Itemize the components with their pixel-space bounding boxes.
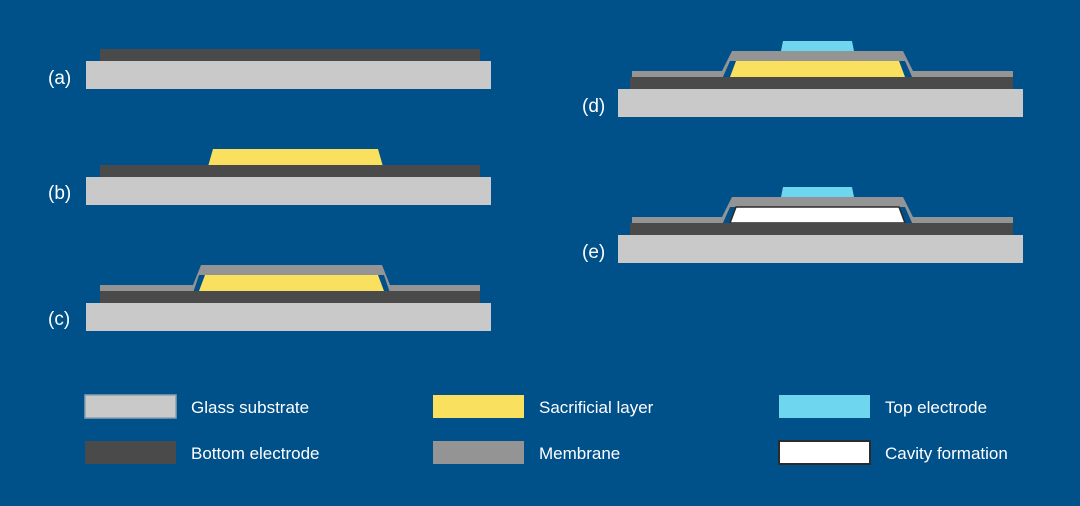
legend-label-bottom-electrode: Bottom electrode — [191, 444, 320, 463]
legend-swatch-sacrificial-layer — [433, 395, 524, 418]
legend-swatch-top-electrode — [779, 395, 870, 418]
panel-a-label: (a) — [48, 68, 71, 89]
panel-c-sacrificial-layer — [199, 275, 384, 291]
panel-c-label: (c) — [48, 309, 70, 330]
legend-item-sacrificial-layer: Sacrificial layer — [433, 395, 654, 418]
panel-b-bottom-electrode — [100, 165, 480, 177]
legend-swatch-glass-substrate — [85, 395, 176, 418]
legend-label-top-electrode: Top electrode — [885, 398, 987, 417]
panel-a: (a) — [48, 49, 491, 89]
panel-b-label: (b) — [48, 183, 71, 204]
legend-swatch-membrane — [433, 441, 524, 464]
panel-d-bottom-electrode — [630, 77, 1013, 89]
legend-item-glass-substrate: Glass substrate — [85, 395, 309, 418]
panel-a-bottom-electrode — [100, 49, 480, 61]
panel-b-glass-substrate — [86, 177, 491, 205]
legend-swatch-cavity-formation — [779, 441, 870, 464]
panel-c-bottom-electrode — [100, 291, 480, 303]
panel-d-sacrificial-layer — [730, 61, 905, 77]
legend-item-bottom-electrode: Bottom electrode — [85, 441, 320, 464]
process-flow-figure: (a) (b) (c) (d) (e) — [0, 0, 1080, 506]
legend-label-glass-substrate: Glass substrate — [191, 398, 309, 417]
legend-label-sacrificial-layer: Sacrificial layer — [539, 398, 654, 417]
panel-e-glass-substrate — [618, 235, 1023, 263]
panel-e-cavity-formation — [730, 207, 905, 223]
panel-d-glass-substrate — [618, 89, 1023, 117]
panel-e-label: (e) — [582, 242, 605, 263]
legend-label-cavity-formation: Cavity formation — [885, 444, 1008, 463]
panel-c-glass-substrate — [86, 303, 491, 331]
process-flow-svg: (a) (b) (c) (d) (e) — [0, 0, 1080, 506]
panel-d-label: (d) — [582, 96, 605, 117]
panel-a-glass-substrate — [86, 61, 491, 89]
panel-e-bottom-electrode — [630, 223, 1013, 235]
legend-label-membrane: Membrane — [539, 444, 620, 463]
legend-item-cavity-formation: Cavity formation — [779, 441, 1008, 464]
legend-swatch-bottom-electrode — [85, 441, 176, 464]
